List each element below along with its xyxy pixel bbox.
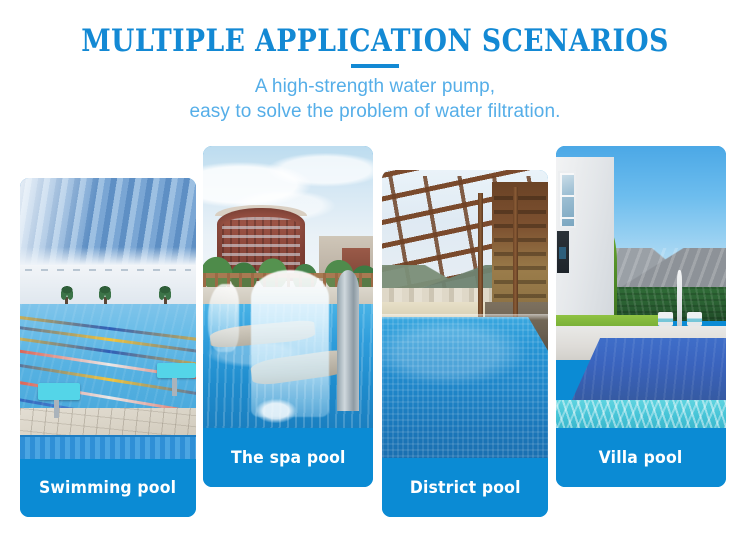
spa-pool-scene [203,146,373,428]
pool-tiled-edge [20,435,196,459]
villa-building [556,157,614,332]
pergola-post [478,193,483,325]
district-pool-water [382,317,548,458]
card-label-text: Villa pool [599,448,683,468]
district-pool-scene [382,170,548,458]
card-label-district-pool[interactable]: District pool [382,458,548,517]
scenario-card-swimming-pool[interactable]: Swimming pool [20,178,196,517]
card-label-spa-pool[interactable]: The spa pool [203,428,373,487]
card-label-text: District pool [410,478,521,498]
water-splash [247,394,305,428]
indoor-pool-scene [20,178,196,459]
scenario-card-grid: Swimming pool T [0,0,750,551]
waterfall-steel-frame [337,270,359,411]
secondary-water-jet [208,284,239,352]
card-label-text: Swimming pool [39,478,176,498]
pool-ceiling [20,178,196,271]
villa-pool-scene [556,146,726,428]
scenario-card-spa-pool[interactable]: The spa pool [203,146,373,487]
district-pool-photo [382,170,548,458]
pergola-post [513,187,518,331]
sun-lounger [687,312,702,326]
starting-block [157,363,196,377]
card-label-villa-pool[interactable]: Villa pool [556,428,726,487]
lane-rope [20,313,196,344]
pool-shallow-foreground [556,400,726,428]
card-label-text: The spa pool [231,448,346,468]
spa-pool-photo [203,146,373,428]
patio-umbrella [677,270,682,326]
swimming-pool-photo [20,178,196,459]
lane-rope [20,323,196,356]
villa-pool-photo [556,146,726,428]
villa-ground-floor-opening [557,231,570,273]
scenario-card-villa-pool[interactable]: Villa pool [556,146,726,487]
starting-block [38,383,80,400]
sun-lounger [658,312,673,326]
pool-coping-edge [382,314,548,320]
card-label-swimming-pool[interactable]: Swimming pool [20,459,196,517]
scenario-card-district-pool[interactable]: District pool [382,170,548,517]
villa-window [558,171,576,227]
